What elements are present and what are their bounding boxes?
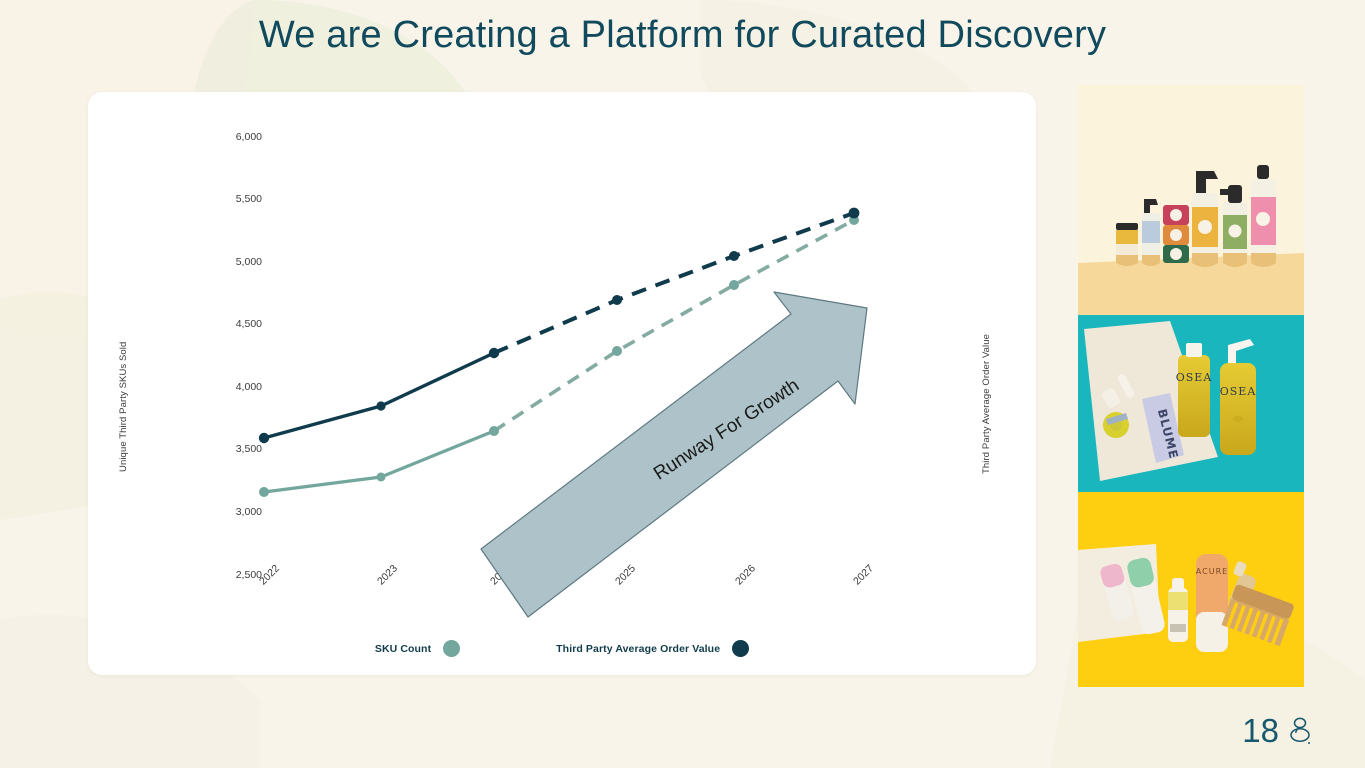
page-number: 18	[1242, 712, 1279, 750]
data-point	[489, 348, 499, 358]
photo-home-cleaning-products	[1078, 85, 1304, 315]
data-point	[729, 280, 739, 290]
data-point	[612, 295, 622, 305]
data-point	[612, 346, 622, 356]
svg-text:OSEA: OSEA	[1176, 371, 1213, 384]
chart-plot	[88, 92, 1036, 675]
data-point	[489, 426, 499, 436]
series-sku-count-solid	[264, 431, 494, 492]
data-point	[377, 473, 386, 482]
legend-label: Third Party Average Order Value	[556, 643, 720, 655]
data-point	[259, 487, 269, 497]
data-point	[376, 401, 385, 410]
svg-text:ACURE: ACURE	[1196, 567, 1228, 576]
legend-swatch-icon	[732, 640, 749, 657]
chart-legend: SKU Count Third Party Average Order Valu…	[88, 640, 1036, 657]
data-point	[729, 251, 739, 261]
product-photo-strip: BLUME OSEA OSEA	[1078, 85, 1304, 687]
photo-osea-blume-skincare: BLUME OSEA OSEA	[1078, 315, 1304, 492]
legend-item-aov[interactable]: Third Party Average Order Value	[556, 640, 749, 657]
legend-item-sku-count[interactable]: SKU Count	[375, 640, 460, 657]
page-footer: 18	[1242, 712, 1313, 750]
page-title: We are Creating a Platform for Curated D…	[0, 14, 1365, 57]
legend-swatch-icon	[443, 640, 460, 657]
data-point	[849, 208, 860, 219]
series-aov-solid	[264, 353, 494, 438]
stacked-stones-logo	[1287, 714, 1313, 748]
data-point	[259, 433, 269, 443]
legend-label: SKU Count	[375, 643, 431, 655]
chart-card: 6,000 5,500 5,000 4,500 4,000 3,500 3,00…	[88, 92, 1036, 675]
photo-acure-haircare-comb: ACURE	[1078, 492, 1304, 687]
svg-text:OSEA: OSEA	[1220, 385, 1257, 398]
